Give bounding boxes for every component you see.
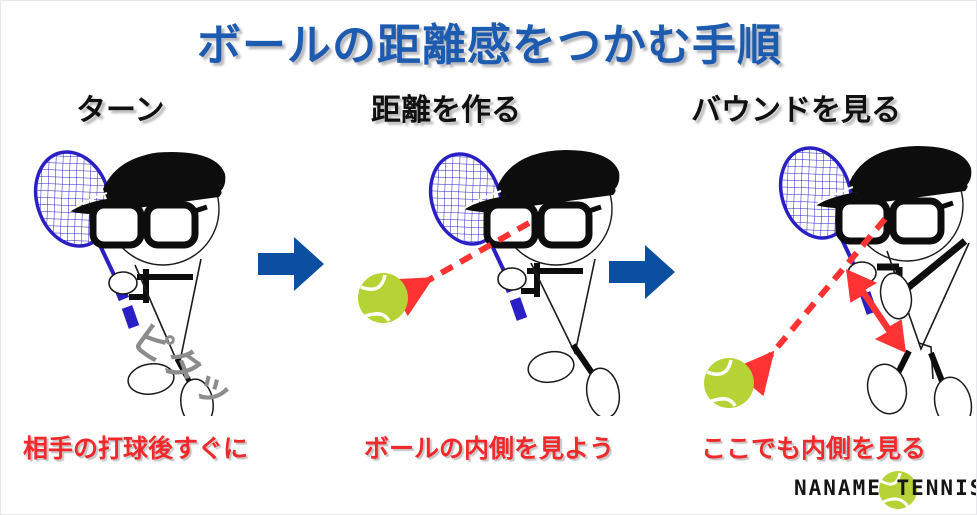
step-heading-2: 距離を作る <box>371 85 521 129</box>
watermark: NANAME TENNIS <box>794 469 974 511</box>
arms-icon <box>498 263 583 297</box>
stick-figure-bounce <box>681 131 977 416</box>
watermark-text: NANAME TENNIS <box>794 476 974 500</box>
flow-arrow-2 <box>607 241 677 308</box>
illustration-step-3 <box>681 131 977 416</box>
illustration-step-2 <box>341 131 641 416</box>
step-caption-2: ボールの内側を見よう <box>364 429 614 465</box>
tennis-ball-icon <box>704 358 754 408</box>
step-heading-3: バウンドを見る <box>691 85 901 129</box>
page-title: ボールの距離感をつかむ手順 <box>1 9 977 73</box>
tennis-ball-icon <box>358 273 408 323</box>
step-caption-1: 相手の打球後すぐに <box>23 429 248 465</box>
right-arrow-icon <box>607 241 677 303</box>
flow-arrow-1 <box>256 233 326 300</box>
step-heading-1: ターン <box>76 85 165 129</box>
right-arrow-icon <box>256 233 326 295</box>
infographic-canvas: ボールの距離感をつかむ手順 ターン 距離を作る バウンドを見る <box>0 0 977 515</box>
step-caption-3: ここでも内側を見る <box>701 429 926 465</box>
stick-figure-distance <box>341 131 641 416</box>
